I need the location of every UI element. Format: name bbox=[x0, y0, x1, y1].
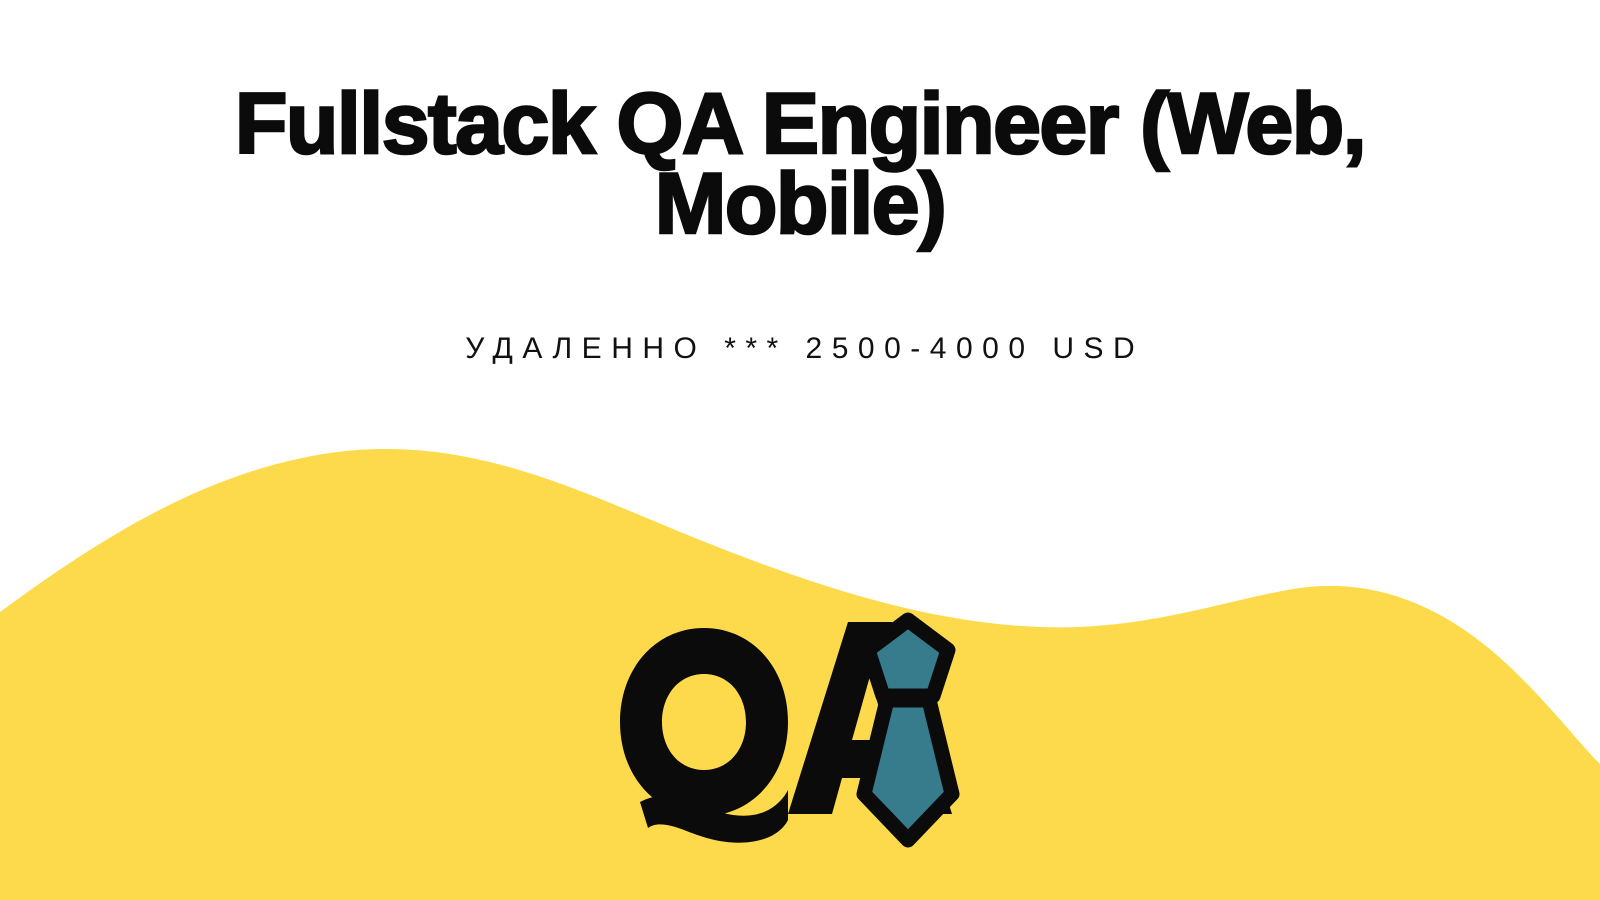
qa-logo bbox=[596, 606, 996, 866]
necktie-icon bbox=[864, 620, 952, 840]
subtitle-meta: УДАЛЕННО *** 2500-4000 USD bbox=[0, 327, 1600, 371]
logo-letter-q bbox=[620, 628, 788, 843]
page-title: Fullstack QA Engineer (Web, Mobile) bbox=[135, 84, 1465, 244]
job-banner-card: Fullstack QA Engineer (Web, Mobile) УДАЛ… bbox=[0, 0, 1600, 900]
